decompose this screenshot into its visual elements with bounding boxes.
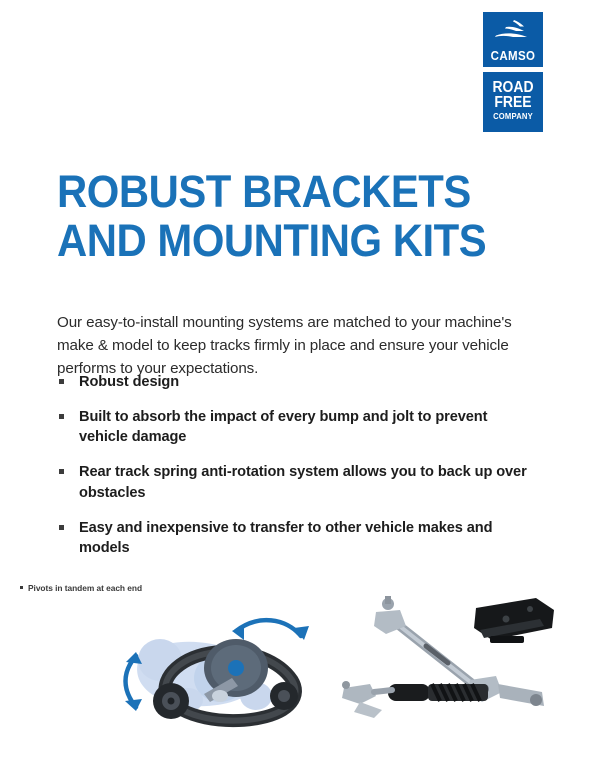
- spring-damper: [342, 681, 488, 718]
- drive-sprocket: [204, 639, 268, 697]
- rubber-track-system-illustration: [108, 600, 338, 745]
- pivot-arc-arrow-horizontal: [232, 620, 309, 640]
- list-item-label: Rear track spring anti-rotation system a…: [79, 464, 527, 501]
- square-bullet-icon: [59, 525, 64, 530]
- camso-chevron-mark-icon: [492, 19, 534, 43]
- square-bullet-icon: [59, 379, 64, 384]
- idler-wheel: [153, 683, 189, 719]
- list-item-label: Built to absorb the impact of every bump…: [79, 409, 487, 446]
- page-title-line-1: ROBUST BRACKETS: [57, 168, 494, 217]
- footnote: Pivots in tandem at each end: [20, 583, 142, 593]
- badge-line-company: COMPANY: [486, 112, 540, 120]
- track-assembly-graphic: [108, 600, 338, 745]
- road-free-company-badge: ROAD FREE COMPANY: [483, 72, 543, 132]
- list-item: Robust design: [57, 372, 527, 393]
- list-item-label: Robust design: [79, 374, 179, 390]
- brand-logo-block: CAMSO ROAD FREE COMPANY: [483, 12, 543, 132]
- feature-list: Robust design Built to absorb the impact…: [57, 372, 527, 573]
- square-bullet-icon: [59, 469, 64, 474]
- page-title-line-2: AND MOUNTING KITS: [57, 217, 494, 266]
- list-item: Built to absorb the impact of every bump…: [57, 407, 527, 448]
- square-bullet-icon: [59, 414, 64, 419]
- list-item: Easy and inexpensive to transfer to othe…: [57, 518, 527, 559]
- pivot-arc-arrow-vertical: [125, 652, 142, 711]
- black-bracket: [474, 598, 554, 643]
- page-title: ROBUST BRACKETS AND MOUNTING KITS: [57, 168, 494, 265]
- front-wheel: [270, 682, 298, 710]
- camso-logo-box: CAMSO: [483, 12, 543, 67]
- intro-paragraph: Our easy-to-install mounting systems are…: [57, 311, 527, 380]
- hardware-parts-graphic: [330, 592, 570, 722]
- badge-line-free: FREE: [486, 95, 540, 110]
- square-bullet-icon: [20, 586, 23, 589]
- road-free-badge-text: ROAD FREE COMPANY: [483, 80, 543, 121]
- camso-wordmark: CAMSO: [485, 50, 540, 63]
- list-item: Rear track spring anti-rotation system a…: [57, 462, 527, 503]
- list-item-label: Easy and inexpensive to transfer to othe…: [79, 520, 492, 557]
- footnote-label: Pivots in tandem at each end: [28, 583, 142, 593]
- mounting-bracket-hardware-photo: [330, 592, 570, 722]
- badge-line-road: ROAD: [486, 80, 540, 95]
